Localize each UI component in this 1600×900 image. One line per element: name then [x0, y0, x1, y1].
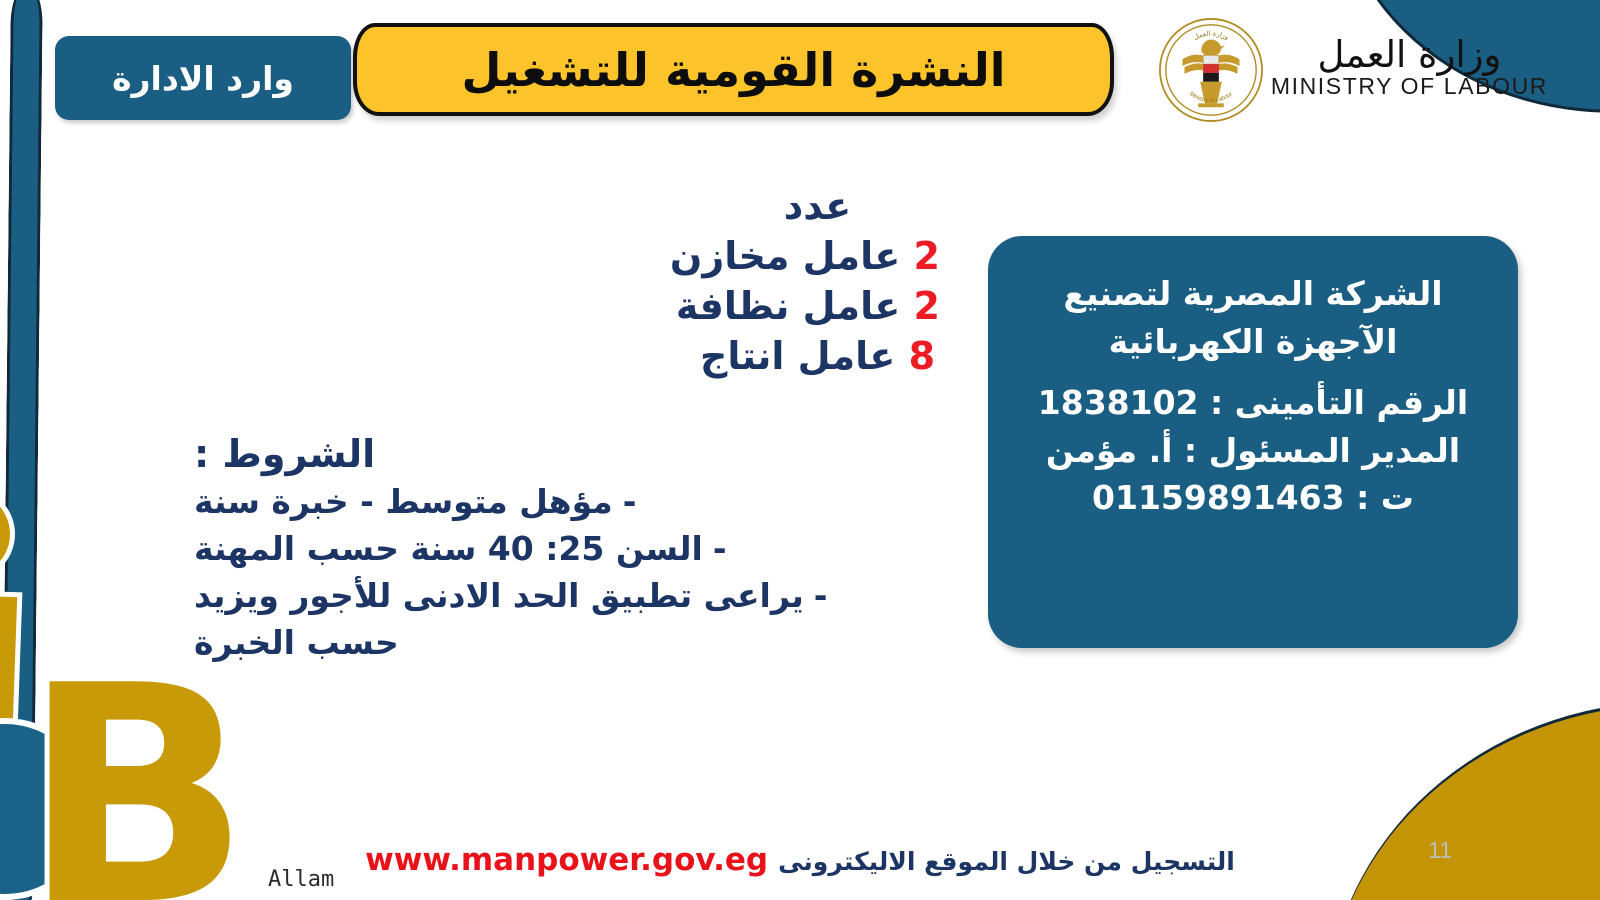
vacancy-job-title: عامل انتاج: [700, 334, 895, 378]
page-number: 11: [1428, 837, 1452, 864]
conditions-list: -مؤهل متوسط - خبرة سنة -السن 25: 40 سنة …: [180, 479, 940, 620]
condition-text: مؤهل متوسط - خبرة سنة: [194, 482, 613, 521]
vacancy-count: 8: [909, 334, 935, 378]
vacancy-row: 2 عامل مخازن: [695, 231, 940, 281]
footer-bar: التسجيل من خلال الموقع الاليكترونى www.m…: [0, 842, 1600, 878]
manpower-website-link[interactable]: www.manpower.gov.eg: [365, 842, 768, 878]
registration-note: التسجيل من خلال الموقع الاليكترونى: [778, 847, 1235, 876]
slide-canvas: B وارد الادارة النشرة القومية للتشغيل: [0, 0, 1600, 900]
egypt-eagle-emblem-icon: وزارة العمل Ministry of Labour: [1157, 16, 1265, 124]
company-insurance-number: الرقم التأمينى : 1838102: [1014, 379, 1492, 427]
vacancy-row: 8 عامل انتاج: [695, 331, 940, 381]
conditions-section: الشروط : -مؤهل متوسط - خبرة سنة -السن 25…: [180, 430, 940, 667]
condition-text: يراعى تطبيق الحد الادنى للأجور ويزيد: [194, 576, 804, 615]
vacancy-row: 2 عامل نظافة: [695, 281, 940, 331]
department-badge: وارد الادارة: [55, 36, 351, 120]
company-manager: المدير المسئول : أ. مؤمن: [1014, 427, 1492, 475]
ministry-logo-text: وزارة العمل MINISTRY OF LABOUR: [1271, 36, 1548, 104]
vacancy-job-title: عامل مخازن: [670, 234, 900, 278]
condition-item: -السن 25: 40 سنة حسب المهنة: [180, 526, 940, 573]
bulletin-title-banner: النشرة القومية للتشغيل: [353, 23, 1114, 116]
company-name: الشركة المصرية لتصنيع الآجهزة الكهربائية: [1014, 270, 1492, 365]
vacancy-count: 2: [914, 284, 940, 328]
vacancies-list: عدد 2 عامل مخازن 2 عامل نظافة 8 عامل انت…: [695, 182, 940, 381]
conditions-heading: الشروط :: [180, 430, 940, 479]
ministry-name-english: MINISTRY OF LABOUR: [1271, 75, 1548, 98]
left-stripe-decoration: [1, 0, 43, 900]
company-phone: ت : 01159891463: [1014, 474, 1492, 522]
author-credit: Allam: [268, 867, 334, 892]
vacancy-count: 2: [914, 234, 940, 278]
bullet-dash: -: [623, 479, 637, 526]
bullet-dash: -: [713, 526, 727, 573]
condition-continuation-text: حسب الخبرة: [180, 620, 940, 667]
company-info-card: الشركة المصرية لتصنيع الآجهزة الكهربائية…: [988, 236, 1518, 648]
vacancy-job-title: عامل نظافة: [676, 284, 900, 328]
ministry-logo: وزارة العمل Ministry of Labour وزارة الع…: [1157, 16, 1548, 124]
department-badge-label: وارد الادارة: [112, 59, 294, 98]
bullet-dash: -: [814, 573, 828, 620]
condition-text: السن 25: 40 سنة حسب المهنة: [194, 529, 703, 568]
condition-item: -يراعى تطبيق الحد الادنى للأجور ويزيد: [180, 573, 940, 620]
condition-item: -مؤهل متوسط - خبرة سنة: [180, 479, 940, 526]
page-title: النشرة القومية للتشغيل: [462, 43, 1006, 97]
vacancies-heading: عدد: [695, 182, 940, 231]
ministry-name-arabic: وزارة العمل: [1271, 36, 1548, 73]
